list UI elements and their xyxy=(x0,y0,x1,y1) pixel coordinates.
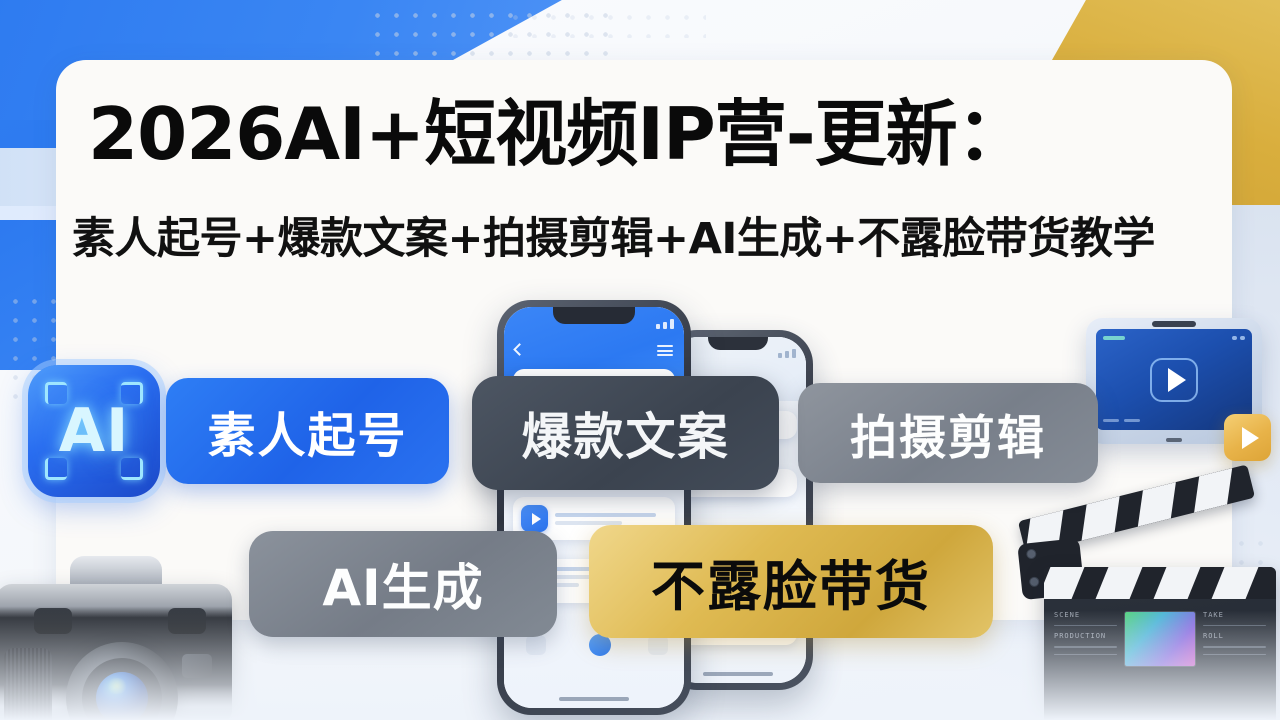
badge-ai-shengcheng[interactable]: AI生成 xyxy=(249,531,557,637)
signal-icon xyxy=(778,349,796,358)
badge-suren-qihao[interactable]: 素人起号 xyxy=(166,378,449,484)
phone-mockup-front xyxy=(497,300,691,715)
phone-notch-icon xyxy=(708,337,768,350)
signal-icon xyxy=(656,319,674,329)
video-lines xyxy=(555,513,667,525)
ai-app-icon: AI xyxy=(28,365,160,497)
scanner-frame-icon xyxy=(45,382,143,480)
phone-home-indicator xyxy=(559,697,629,701)
phone-notch-icon xyxy=(553,307,635,324)
text-line xyxy=(555,513,656,517)
badge-bulu-lian[interactable]: 不露脸带货 xyxy=(589,525,993,638)
badge-paishe-jianji[interactable]: 拍摄剪辑 xyxy=(798,383,1098,483)
rec-indicator-icon xyxy=(1103,336,1125,340)
hamburger-menu-icon[interactable] xyxy=(657,345,673,356)
phone-home-indicator xyxy=(703,672,773,676)
phone-front-screen xyxy=(504,307,684,708)
toolbar-icon-left[interactable] xyxy=(526,635,546,655)
page-subtitle: 素人起号+爆款文案+拍摄剪辑+AI生成+不露脸带货教学 xyxy=(72,216,1232,263)
back-chevron-icon[interactable] xyxy=(513,343,526,356)
badge-baokuan-wenan[interactable]: 爆款文案 xyxy=(472,376,779,490)
clapper-bottom-bar xyxy=(1044,567,1276,599)
battery-icon xyxy=(1232,336,1245,340)
toolbar-icon-right[interactable] xyxy=(648,635,668,655)
play-icon[interactable] xyxy=(521,505,548,532)
monitor-mount xyxy=(1166,438,1182,442)
page-title: 2026AI+短视频IP营-更新： xyxy=(88,98,1198,170)
gold-play-button-icon[interactable] xyxy=(1224,414,1271,461)
monitor-status-bar xyxy=(1103,419,1140,422)
dot-grid-top-right xyxy=(506,8,706,38)
text-line xyxy=(555,521,622,525)
poster-canvas: 2026AI+短视频IP营-更新： 素人起号+爆款文案+拍摄剪辑+AI生成+不露… xyxy=(0,0,1280,720)
play-icon[interactable] xyxy=(1150,358,1198,402)
